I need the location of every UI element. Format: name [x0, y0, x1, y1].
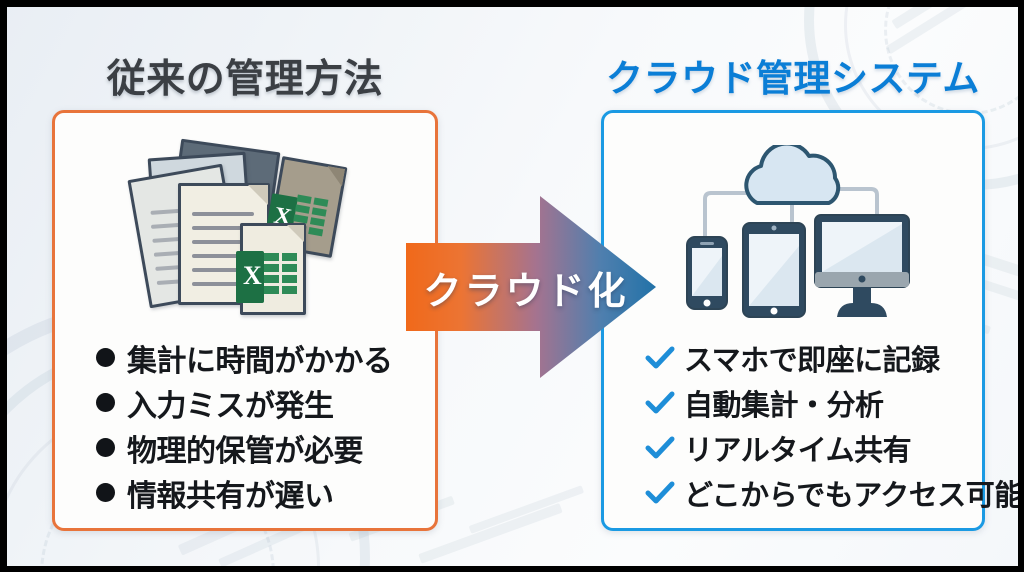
list-item: 入力ミスが発生	[96, 381, 426, 424]
list-item: どこからでもアクセス可能	[645, 471, 985, 514]
letterbox-left	[0, 0, 7, 572]
paper-documents-excel-files-icon: X X	[130, 143, 360, 318]
list-item-label: どこからでもアクセス可能	[684, 472, 1023, 514]
check-icon	[645, 390, 675, 416]
cloud-benefit-list: スマホで即座に記録 自動集計・分析 リアルタイム共有 どこからでもアクセス可能	[645, 336, 985, 516]
list-item-label: 物理的保管が必要	[127, 426, 363, 470]
bullet-dot-icon	[96, 438, 115, 457]
list-item-label: 情報共有が遅い	[127, 471, 334, 515]
list-item: スマホで即座に記録	[645, 336, 985, 379]
bullet-dot-icon	[96, 348, 115, 367]
list-item: 集計に時間がかかる	[96, 336, 426, 379]
list-item-label: 自動集計・分析	[684, 382, 884, 424]
list-item-label: 集計に時間がかかる	[127, 336, 393, 380]
right-panel-title: クラウド管理システム	[601, 48, 985, 102]
bullet-dot-icon	[96, 393, 115, 412]
list-item-label: スマホで即座に記録	[684, 337, 940, 379]
bullet-dot-icon	[96, 483, 115, 502]
left-panel-title: 従来の管理方法	[52, 48, 438, 104]
check-icon	[645, 480, 675, 506]
letterbox-bottom	[0, 566, 1024, 572]
list-item-label: リアルタイム共有	[684, 427, 911, 469]
letterbox-top	[0, 0, 1024, 7]
list-item: 物理的保管が必要	[96, 426, 426, 469]
list-item: 自動集計・分析	[645, 381, 985, 424]
list-item: リアルタイム共有	[645, 426, 985, 469]
cloud-connected-devices-icon	[665, 145, 920, 320]
arrow-label: クラウド化	[406, 258, 646, 316]
list-item: 情報共有が遅い	[96, 471, 426, 514]
check-icon	[645, 435, 675, 461]
slide-canvas: 従来の管理方法 クラウド管理システム	[0, 0, 1024, 572]
list-item-label: 入力ミスが発生	[127, 381, 334, 425]
legacy-problem-list: 集計に時間がかかる 入力ミスが発生 物理的保管が必要 情報共有が遅い	[96, 336, 426, 516]
letterbox-right	[1018, 0, 1024, 572]
